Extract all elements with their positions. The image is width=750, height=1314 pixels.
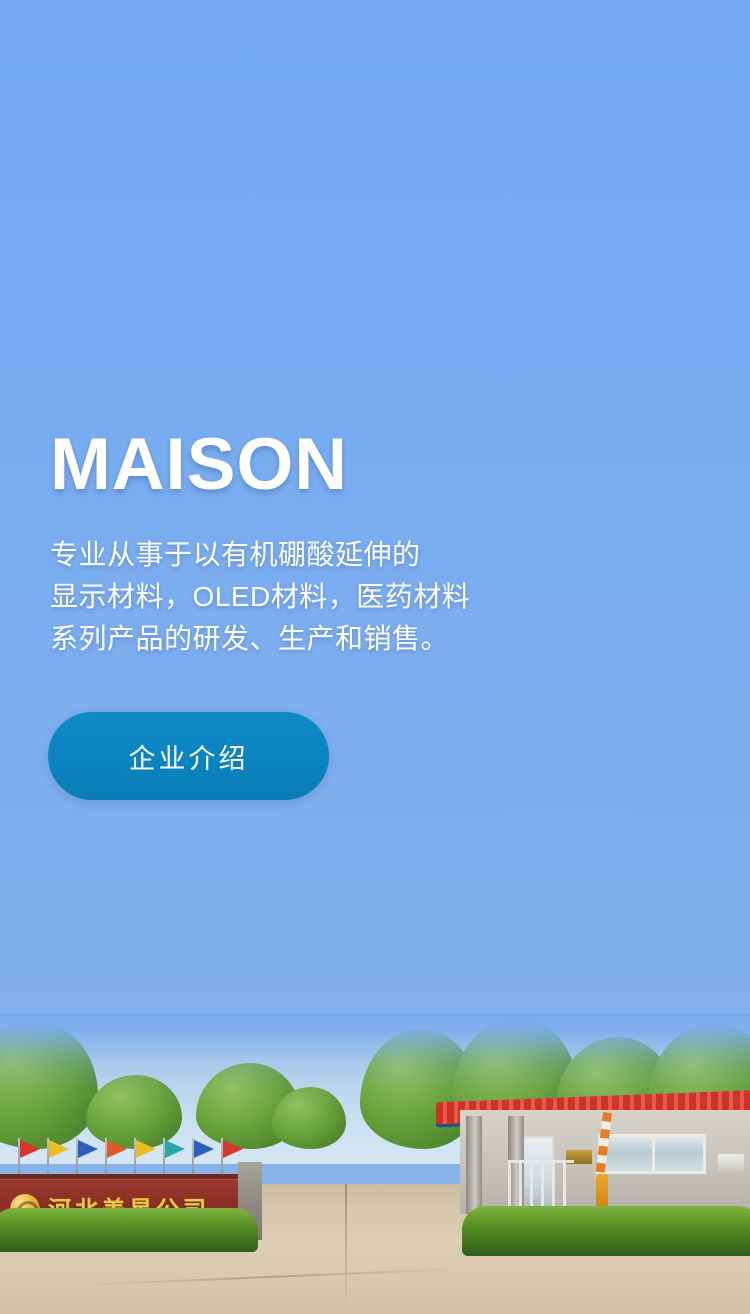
air-conditioner-unit xyxy=(718,1154,744,1172)
guard-house-window xyxy=(598,1134,706,1174)
flag-4 xyxy=(105,1138,107,1178)
flag-pennant-2 xyxy=(49,1140,69,1158)
flag-pennant-1 xyxy=(20,1140,40,1158)
flag-8 xyxy=(221,1138,223,1178)
hero-banner: 河北美星公司 MAISON CHEMICAL MAISON 专业从事于以有机硼酸… xyxy=(0,0,750,1314)
flag-6 xyxy=(163,1138,165,1178)
flag-pennant-7 xyxy=(194,1140,214,1158)
flag-5 xyxy=(134,1138,136,1178)
flag-pennant-5 xyxy=(136,1140,156,1158)
subtitle-line-2: 显示材料，OLED材料，医药材料 xyxy=(50,581,470,612)
hedge-left xyxy=(0,1208,258,1252)
flag-pennant-8 xyxy=(223,1140,243,1158)
factory-entrance-photo: 河北美星公司 MAISON CHEMICAL xyxy=(0,1014,750,1314)
company-intro-button[interactable]: 企业介绍 xyxy=(48,712,329,800)
subtitle-line-1: 专业从事于以有机硼酸延伸的 xyxy=(50,539,421,570)
flag-pennant-3 xyxy=(78,1140,98,1158)
portico-column-left xyxy=(466,1116,482,1214)
subtitle-line-3: 系列产品的研发、生产和销售。 xyxy=(50,623,449,654)
page-title: MAISON xyxy=(50,428,348,501)
flag-pennant-4 xyxy=(107,1140,127,1158)
hero-subtitle: 专业从事于以有机硼酸延伸的 显示材料，OLED材料，医药材料 系列产品的研发、生… xyxy=(50,534,470,660)
flag-3 xyxy=(76,1138,78,1178)
flag-7 xyxy=(192,1138,194,1178)
photo-scene: 河北美星公司 MAISON CHEMICAL xyxy=(0,1014,750,1314)
tree-1 xyxy=(0,1021,98,1149)
hedge-right xyxy=(462,1206,750,1256)
flag-2 xyxy=(47,1138,49,1178)
sign-wall-cap xyxy=(0,1174,246,1179)
pavement-crack xyxy=(75,1268,465,1286)
flag-1 xyxy=(18,1138,20,1178)
flag-pennant-6 xyxy=(165,1140,185,1158)
